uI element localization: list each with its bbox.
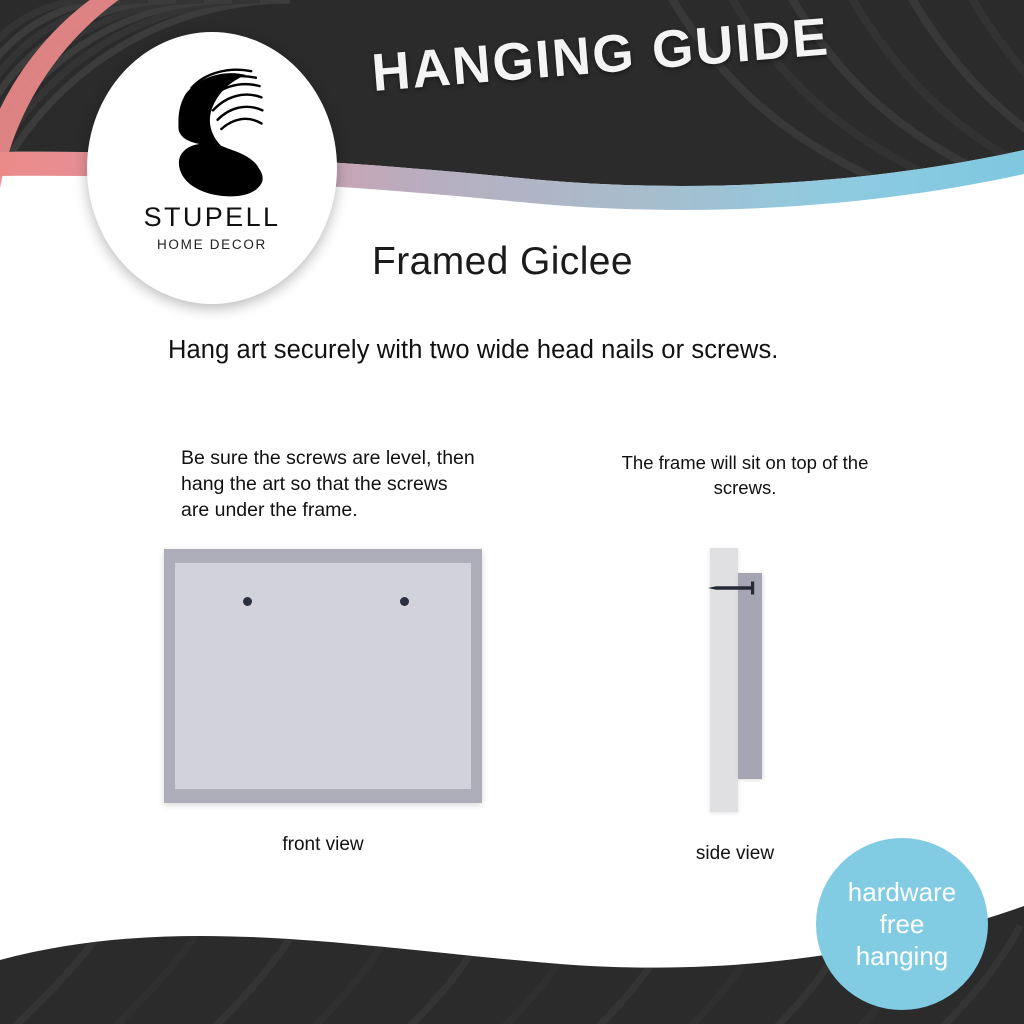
hanging-guide-page: STUPELL HOME DECOR HANGING GUIDE Framed … (0, 0, 1024, 1024)
side-view-diagram (700, 540, 790, 820)
front-view-label: front view (164, 834, 482, 856)
badge-line-2: free (880, 908, 925, 940)
page-title: HANGING GUIDE (370, 6, 832, 104)
nail-side-icon (706, 580, 766, 596)
screw-dot-right-icon (400, 597, 409, 606)
front-view-mat (175, 563, 471, 789)
hardware-free-hanging-badge: hardware free hanging (816, 838, 988, 1010)
brand-tagline: HOME DECOR (157, 237, 267, 252)
brand-logo-badge: STUPELL HOME DECOR (87, 32, 337, 304)
brand-name: STUPELL (144, 202, 281, 233)
side-view-frame (738, 573, 762, 779)
main-instruction-text: Hang art securely with two wide head nai… (168, 336, 868, 365)
side-view-label: side view (660, 843, 810, 865)
screw-dot-left-icon (243, 597, 252, 606)
side-view-note: The frame will sit on top of the screws. (600, 450, 890, 500)
front-view-diagram (164, 549, 482, 803)
front-view-note: Be sure the screws are level, then hang … (181, 445, 481, 523)
product-type-subtitle: Framed Giclee (372, 240, 633, 284)
stupell-s-swoosh-icon (144, 60, 280, 200)
badge-line-3: hanging (856, 940, 949, 972)
badge-line-1: hardware (848, 876, 956, 908)
